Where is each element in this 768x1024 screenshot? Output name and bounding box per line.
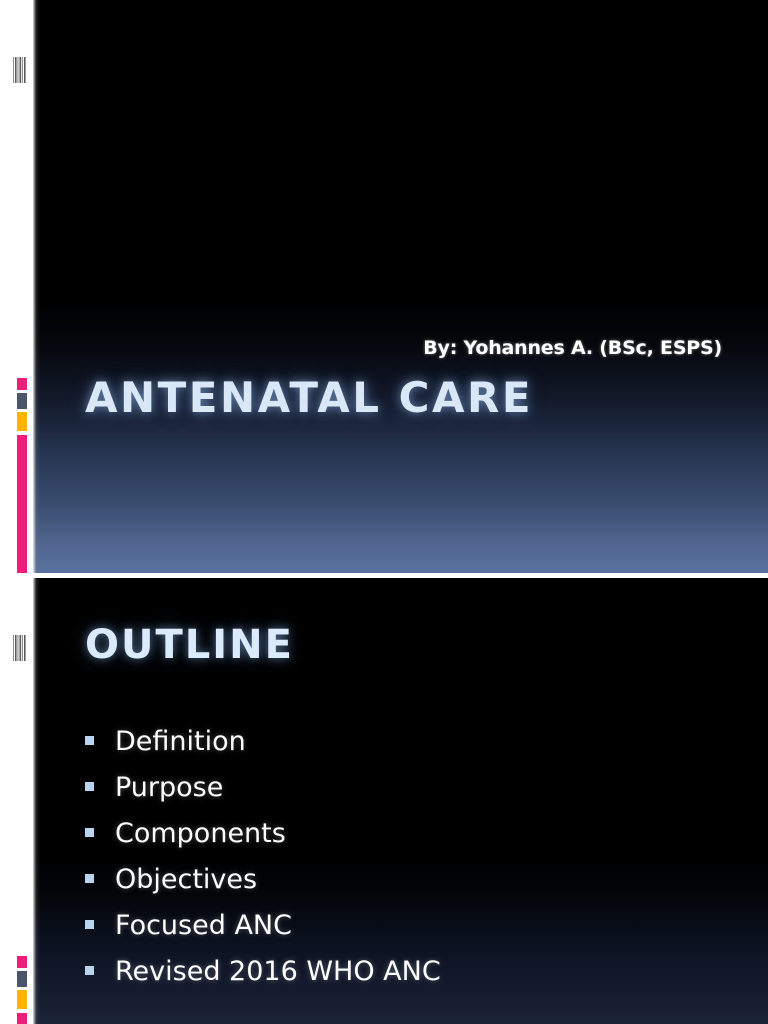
segment-pink-long — [17, 435, 27, 573]
segment-pink-top — [17, 378, 27, 390]
list-item-label: Revised 2016 WHO ANC — [115, 956, 441, 987]
bullet-square-icon — [85, 920, 94, 929]
list-item: Objectives — [85, 864, 738, 910]
list-item-label: Purpose — [115, 772, 223, 803]
slide-heading: OUTLINE — [85, 622, 294, 668]
slide-title[interactable]: By: Yohannes A. (BSc, ESPS) ANTENATAL CA… — [33, 0, 768, 573]
slide-background-gradient — [33, 0, 768, 573]
list-item-label: Definition — [115, 726, 246, 757]
decorative-color-rail — [17, 956, 27, 1024]
list-item: Focused ANC — [85, 910, 738, 956]
segment-amber — [17, 412, 27, 431]
bullet-square-icon — [85, 966, 94, 975]
slide-outline[interactable]: OUTLINE DefinitionPurposeComponentsObjec… — [33, 578, 768, 1024]
grip-handle-icon[interactable] — [13, 635, 26, 661]
bullet-square-icon — [85, 736, 94, 745]
bullet-square-icon — [85, 874, 94, 883]
outline-bullet-list: DefinitionPurposeComponentsObjectivesFoc… — [85, 726, 738, 1002]
segment-pink-long — [17, 1013, 27, 1024]
list-item: Components — [85, 818, 738, 864]
slide-viewer[interactable]: By: Yohannes A. (BSc, ESPS) ANTENATAL CA… — [0, 0, 768, 1024]
decorative-color-rail — [17, 378, 27, 573]
segment-slate — [17, 393, 27, 409]
presenter-byline: By: Yohannes A. (BSc, ESPS) — [33, 337, 722, 359]
list-item-label: Objectives — [115, 864, 257, 895]
deck-title: ANTENATAL CARE — [85, 373, 533, 422]
bullet-square-icon — [85, 782, 94, 791]
list-item: Revised 2016 WHO ANC — [85, 956, 738, 1002]
segment-amber — [17, 990, 27, 1009]
grip-handle-icon[interactable] — [13, 57, 26, 83]
list-item: Purpose — [85, 772, 738, 818]
list-item-label: Focused ANC — [115, 910, 292, 941]
bullet-square-icon — [85, 828, 94, 837]
segment-slate — [17, 971, 27, 987]
segment-pink-top — [17, 956, 27, 968]
list-item: Definition — [85, 726, 738, 772]
list-item-label: Components — [115, 818, 286, 849]
